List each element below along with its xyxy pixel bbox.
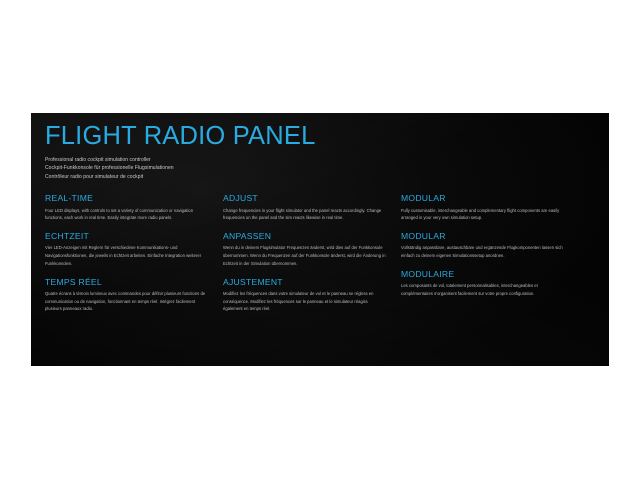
feature-heading: AJUSTEMENT [223,278,401,287]
feature-body: Fully customisable, interchangeable and … [401,207,564,222]
feature-heading: TEMPS RÉEL [45,278,223,287]
subtitle-de: Cockpit-Funkkonsole für professionelle F… [45,164,595,173]
feature-body: Vier LED-Anzeigen mit Reglern für versch… [45,244,208,267]
feature-heading: MODULAIRE [401,270,579,279]
product-info-graphic: FLIGHT RADIO PANEL Professional radio co… [0,0,640,480]
feature-heading: ANPASSEN [223,232,401,241]
feature-block-adjust-en: ADJUST Change frequencies in your flight… [223,194,401,222]
subtitle-en: Professional radio cockpit simulation co… [45,156,595,165]
feature-block-adjust-fr: AJUSTEMENT Modifiez les fréquences dans … [223,278,401,314]
feature-column-real-time: REAL-TIME Four LED displays, with contro… [45,194,223,323]
feature-block-real-time-en: REAL-TIME Four LED displays, with contro… [45,194,223,222]
panel-header: FLIGHT RADIO PANEL Professional radio co… [31,113,609,182]
feature-body: Wenn du in deinem Flugsimulator Frequenz… [223,244,386,267]
feature-body: Vollständig anpassbare, austauschbare un… [401,244,564,259]
feature-heading: MODULAR [401,232,579,241]
feature-body: Modifiez les fréquences dans votre simul… [223,290,386,313]
feature-block-modular-fr: MODULAIRE Les composants de vol, totalem… [401,270,579,298]
feature-column-adjust: ADJUST Change frequencies in your flight… [223,194,401,323]
feature-block-adjust-de: ANPASSEN Wenn du in deinem Flugsimulator… [223,232,401,268]
feature-heading: MODULAR [401,194,579,203]
feature-block-real-time-de: ECHTZEIT Vier LED-Anzeigen mit Reglern f… [45,232,223,268]
feature-block-modular-de: MODULAR Vollständig anpassbare, austausc… [401,232,579,260]
feature-body: Four LED displays, with controls to set … [45,207,208,222]
feature-column-modular: MODULAR Fully customisable, interchangea… [401,194,579,323]
feature-block-modular-en: MODULAR Fully customisable, interchangea… [401,194,579,222]
page-title: FLIGHT RADIO PANEL [45,124,595,150]
feature-heading: REAL-TIME [45,194,223,203]
dark-product-panel: FLIGHT RADIO PANEL Professional radio co… [31,113,609,366]
feature-columns: REAL-TIME Four LED displays, with contro… [31,194,609,323]
feature-block-real-time-fr: TEMPS RÉEL Quatre écrans à témoin lumine… [45,278,223,314]
feature-body: Les composants de vol, totalement person… [401,282,564,297]
feature-body: Quatre écrans à témoin lumineux avec com… [45,290,208,313]
feature-body: Change frequencies in your flight simula… [223,207,386,222]
feature-heading: ECHTZEIT [45,232,223,241]
feature-heading: ADJUST [223,194,401,203]
subtitle-fr: Contrôleur radio pour simulateur de cock… [45,173,595,182]
